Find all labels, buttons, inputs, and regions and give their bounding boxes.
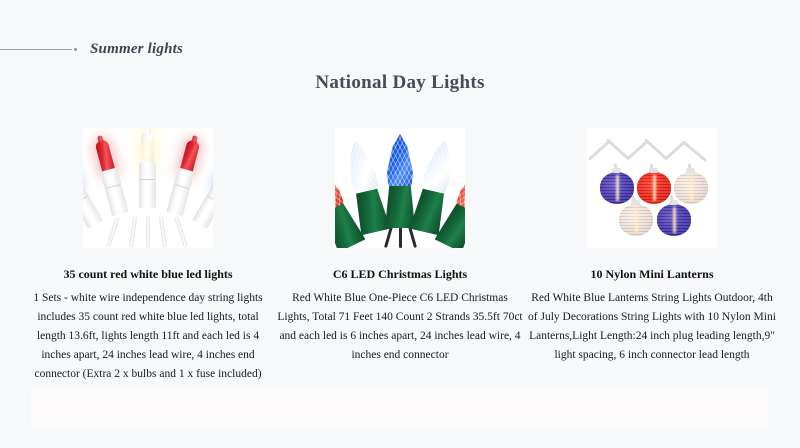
eyebrow-rule-line [0,49,72,50]
product-card-mini-led-lights[interactable]: 35 count red white blue led lights 1 Set… [22,128,274,384]
product-card-c6-led-lights[interactable]: C6 LED Christmas Lights Red White Blue O… [274,128,526,365]
lantern-cap [686,168,695,173]
lantern-red-top-center [637,172,671,204]
mini-bulb-socket [100,168,128,217]
c6-lead-wire-center [399,226,402,248]
product-image-nylon-lanterns [587,128,717,248]
lantern-cap [612,168,621,173]
product-image-mini-led-lights [83,128,213,248]
mini-bulb-socket [192,180,213,228]
mini-bulb-cap-white [141,132,154,166]
lantern-blue-top-left [600,172,634,204]
lantern-wire-segment [664,141,685,161]
lantern-wire-segment [606,138,629,159]
lantern-white-bottom-left [619,204,653,236]
lantern-glow [673,207,676,234]
mini-wire-right-inner [159,216,167,248]
nylon-lantern-string-illustration [587,128,717,248]
lantern-glow [653,175,656,202]
product-description: Red White Blue One-Piece C6 LED Christma… [275,289,525,365]
mini-wire-left-outer [106,216,120,248]
product-image-c6-led-lights [335,128,465,248]
c6-bulb-base [385,186,415,228]
product-title: 35 count red white blue led lights [63,266,232,282]
product-description: Red White Blue Lanterns String Lights Ou… [527,289,777,365]
eyebrow-dot-marker [74,48,77,51]
lantern-white-top-right [674,172,708,204]
lantern-wire-segment [626,141,647,161]
lantern-wire-segment [588,141,609,161]
lantern-cap [649,168,658,173]
product-description: 1 Sets - white wire independence day str… [23,289,273,384]
product-title: C6 LED Christmas Lights [333,266,467,282]
mini-bulb-red-left [93,139,130,221]
mini-bulb-socket [83,180,103,228]
lantern-blue-bottom-right [657,204,691,236]
bottom-content-panel [31,389,768,428]
mini-bulb-red-right [165,139,202,221]
product-card-nylon-lanterns[interactable]: 10 Nylon Mini Lanterns Red White Blue La… [526,128,778,365]
c6-led-string-illustration [335,128,465,248]
c6-bulb-cone-blue [387,134,413,192]
lantern-wire-segment [644,138,667,159]
lantern-glow [690,175,693,202]
lantern-cap [669,200,678,205]
mini-wire-center [146,216,150,248]
mini-led-string-illustration [83,128,213,248]
product-title: 10 Nylon Mini Lanterns [590,266,713,282]
mini-bulb-socket [166,168,194,217]
lantern-cap [631,200,640,205]
lantern-glow [616,175,619,202]
eyebrow-label: Summer lights [90,41,183,58]
section-eyebrow: Summer lights [0,38,183,60]
mini-wire-right-outer [174,216,188,248]
product-grid: 35 count red white blue led lights 1 Set… [22,128,778,384]
page-title: National Day Lights [0,72,800,94]
mini-bulb-filament [145,145,150,159]
lantern-wire-segment [682,140,707,162]
page-root: { "header": { "eyebrow_label": "Summer l… [0,0,800,448]
mini-wire-left-inner [129,216,137,248]
mini-bulb-socket [139,162,156,208]
mini-bulb-white-center [139,132,156,218]
c6-bulb-blue-center [387,134,413,228]
lantern-glow [635,207,638,234]
